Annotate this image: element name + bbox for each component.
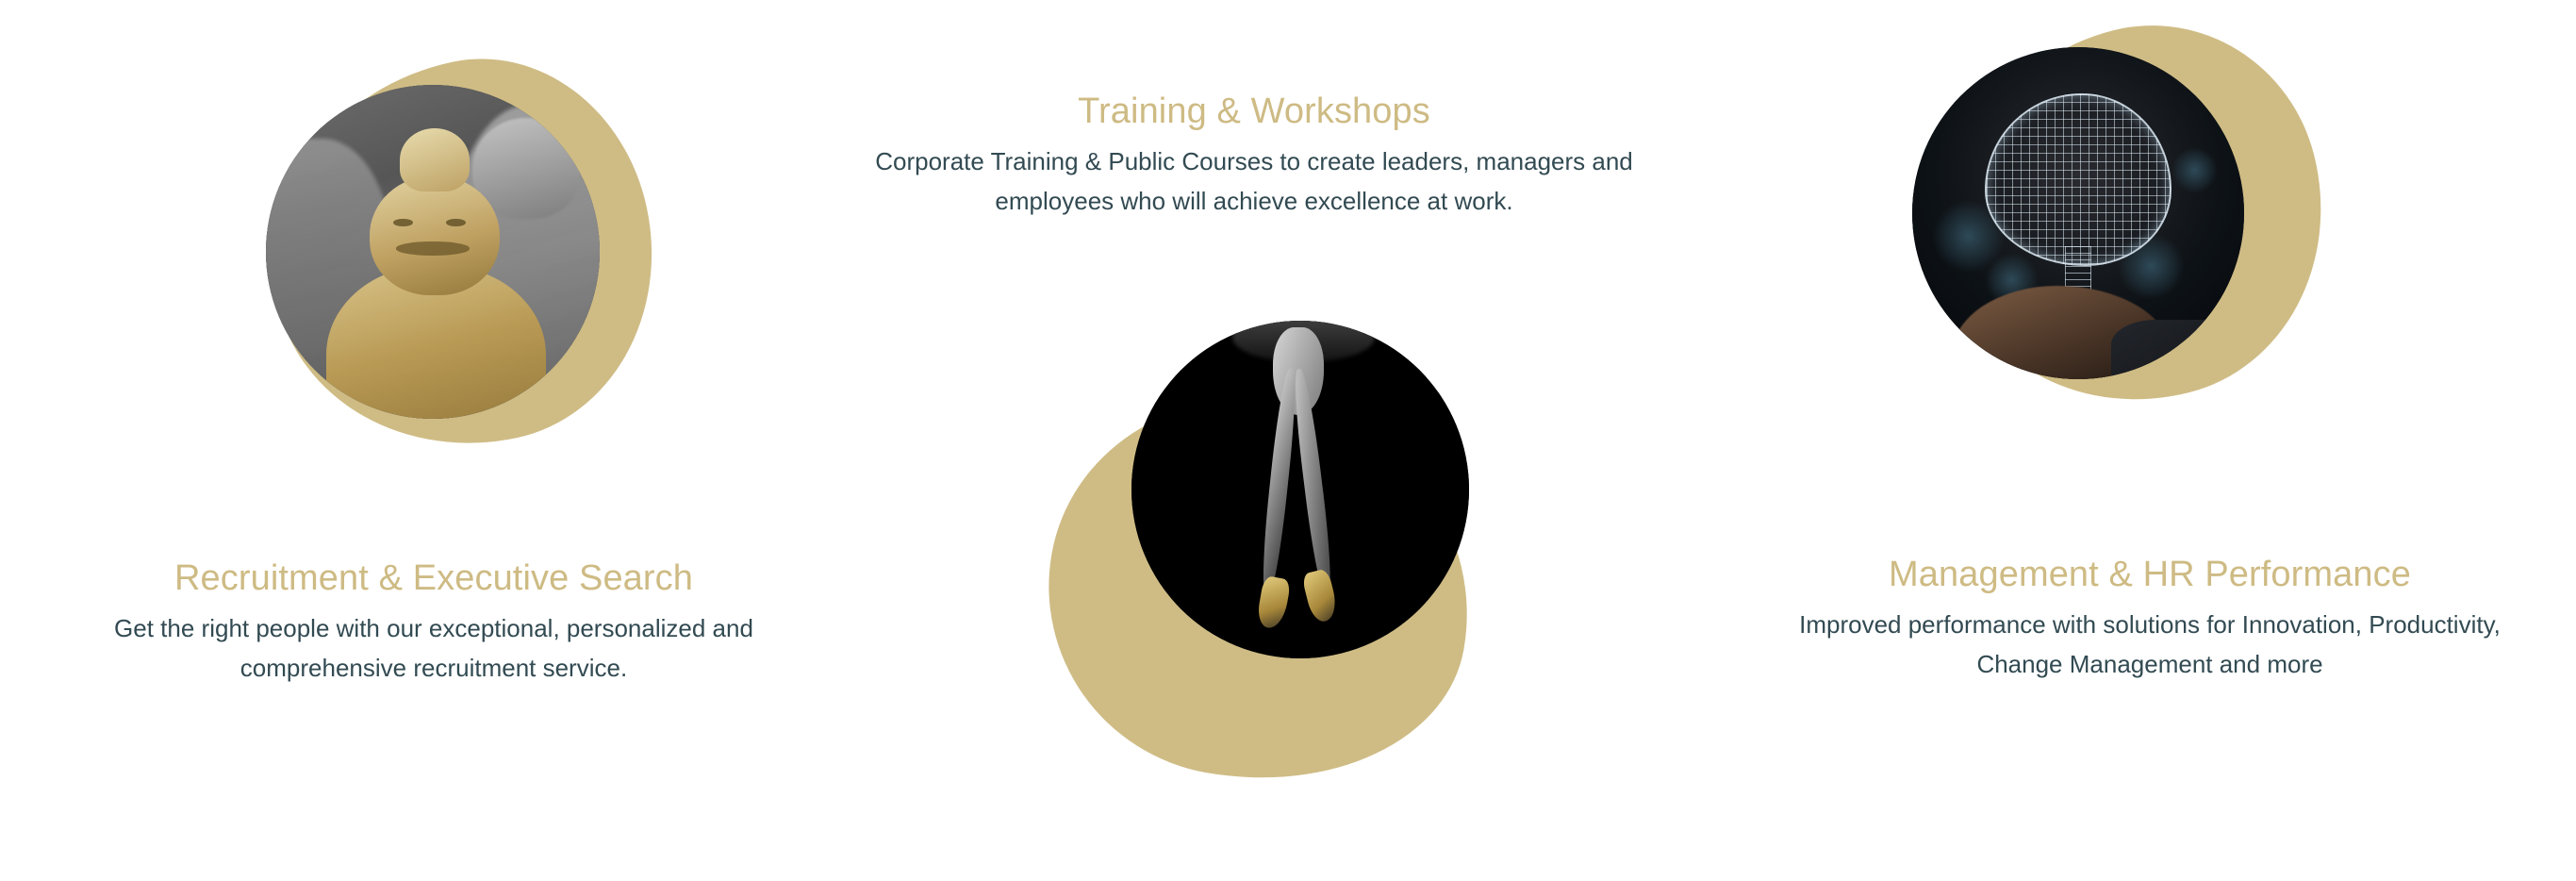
service-card-training[interactable]: Training & Workshops Corporate Training … — [839, 0, 1669, 881]
services-section: Recruitment & Executive Search Get the r… — [0, 0, 2576, 881]
digital-brain-in-hand-icon — [1912, 47, 2244, 379]
service-image-management[interactable] — [1912, 47, 2244, 379]
terracotta-warrior-statue-icon — [266, 85, 600, 419]
service-image-recruitment[interactable] — [266, 85, 600, 419]
service-card-management[interactable]: Management & HR Performance Improved per… — [1735, 0, 2565, 881]
service-title-training: Training & Workshops — [839, 90, 1669, 135]
service-image-training[interactable] — [1131, 321, 1469, 658]
service-title-recruitment: Recruitment & Executive Search — [19, 557, 849, 602]
service-media-management — [1878, 19, 2350, 472]
service-description-training: Corporate Training & Public Courses to c… — [858, 141, 1650, 221]
service-media-training — [1049, 321, 1520, 773]
service-description-management: Improved performance with solutions for … — [1773, 605, 2527, 684]
service-description-recruitment: Get the right people with our exceptiona… — [66, 608, 801, 688]
service-title-management: Management & HR Performance — [1735, 553, 2565, 598]
ballet-dancer-pointe-shoes-icon — [1131, 321, 1469, 658]
service-media-recruitment — [204, 57, 675, 509]
service-card-recruitment[interactable]: Recruitment & Executive Search Get the r… — [19, 0, 849, 881]
